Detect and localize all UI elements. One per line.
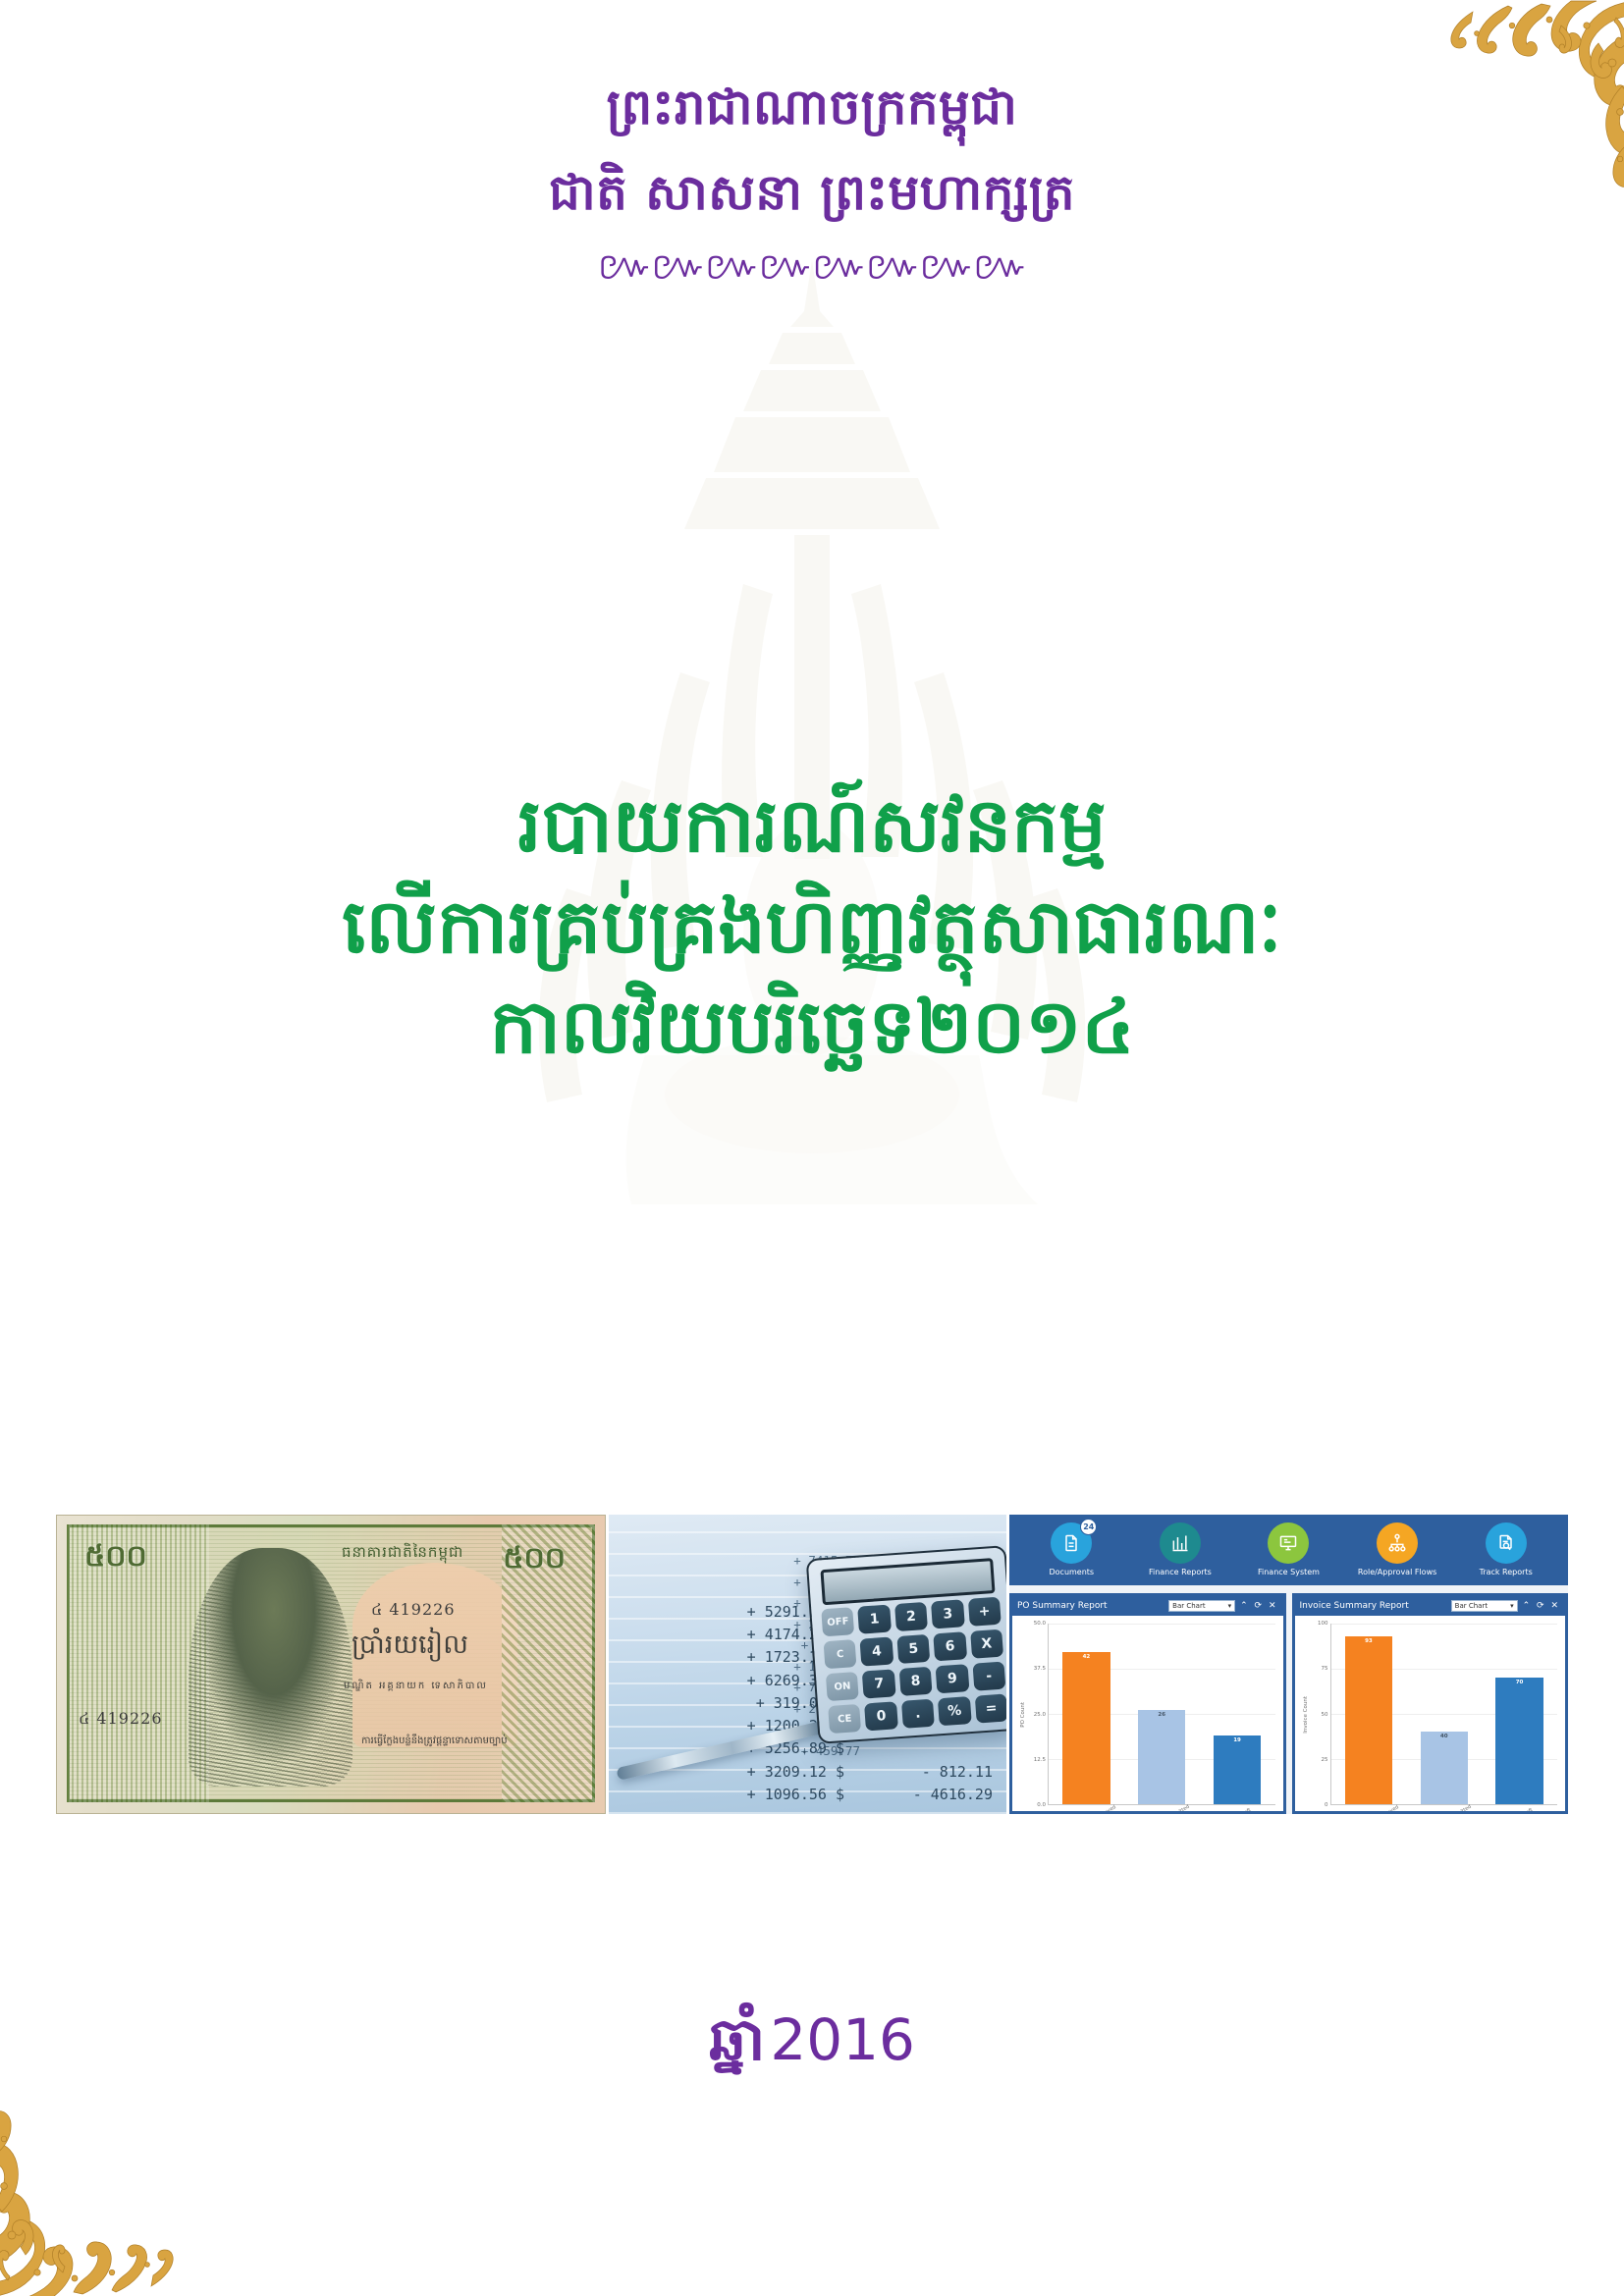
bar-value-label: 19 (1233, 1737, 1241, 1743)
bar-value-label: 70 (1516, 1680, 1524, 1685)
banknote-denomination-right: ៥០០ (503, 1539, 566, 1582)
title-line-audit-report: របាយការណ៍សវនកម្ម (0, 775, 1624, 877)
chart-x-labels: Approved Submitted Draft (1070, 1810, 1275, 1814)
calculator-key[interactable]: OFF (821, 1607, 854, 1636)
x-tick-label: Draft (1238, 1807, 1252, 1814)
document-header: ព្រះរាជាណាចក្រកម្ពុជា ជាតិ សាសនា ព្រះមហា… (0, 0, 1624, 286)
calculator-key[interactable]: - (972, 1662, 1005, 1691)
y-tick: 50.0 (1034, 1621, 1046, 1627)
document-icon: 24 (1051, 1522, 1092, 1564)
chart-plot-area: 42 26 19 (1048, 1624, 1275, 1805)
bar-value-label: 26 (1158, 1712, 1165, 1718)
dashboard-tile-label: Finance System (1258, 1569, 1320, 1577)
banknote-counterfeit-warning: ការធ្វើក្លែងបន្លំនឹងត្រូវផ្តន្ទាទោសតាមច្… (361, 1734, 508, 1748)
chart-bar[interactable]: 19 (1214, 1735, 1261, 1804)
calculator-key[interactable]: ON (826, 1672, 859, 1701)
chart-y-ticks: 0.0 12.5 25.0 37.5 50.0 (1028, 1624, 1048, 1805)
calculator-key[interactable]: 5 (896, 1634, 930, 1664)
year-value: 2016 (770, 2006, 915, 2073)
calculator-key[interactable]: % (938, 1696, 971, 1726)
chart-plot-area: 93 40 70 (1330, 1624, 1558, 1805)
title-line-fiscal-period: កាលវិយបរិច្ឆេទ២០១៤ (0, 977, 1624, 1078)
bar-value-label: 93 (1365, 1638, 1373, 1644)
accounting-photo: + 7415.70 + 7120.08 + 2294.31 + 2182.11 … (609, 1515, 1006, 1814)
x-tick-label: Submitted (1448, 1804, 1473, 1814)
hierarchy-icon (1377, 1522, 1418, 1564)
calculator-key[interactable]: . (901, 1699, 935, 1729)
search-document-icon (1486, 1522, 1527, 1564)
y-tick: 75 (1322, 1666, 1328, 1672)
year-label: ឆ្នាំ (709, 2005, 765, 2074)
royal-emblem-watermark (449, 250, 1175, 1252)
banknote-issuer-text: ធនាគារជាតិនៃកម្ពុជា (342, 1543, 463, 1565)
ledger-line: + 319.05 $ (619, 1692, 844, 1715)
x-tick-label: Draft (1520, 1807, 1534, 1814)
document-title-block: របាយការណ៍សវនកម្ម លើការគ្រប់គ្រងហិញ្ញវត្ថ… (0, 775, 1624, 1078)
panel-window-controls[interactable]: ⌃ ⟳ ✕ (1523, 1601, 1560, 1611)
cover-image-strip: ៥០០ ៥០០ ធនាគារជាតិនៃកម្ពុជា ៤ 419226 ៤ 4… (56, 1515, 1568, 1814)
publication-year-block: ឆ្នាំ 2016 (0, 2002, 1624, 2089)
ledger-line: + 1723.11 $ (619, 1646, 844, 1669)
y-tick: 100 (1318, 1621, 1328, 1627)
chart-type-select[interactable]: Bar Chart ▾ (1451, 1600, 1518, 1612)
chart-bars: 93 40 70 (1331, 1624, 1558, 1804)
ledger-right-numbers: - 812.11 - 4616.29 (845, 1761, 993, 1807)
panel-header: PO Summary Report Bar Chart ▾ ⌃ ⟳ ✕ (1012, 1596, 1283, 1616)
chart-type-value: Bar Chart (1455, 1602, 1488, 1610)
y-tick: 25 (1322, 1757, 1328, 1763)
panel-window-controls[interactable]: ⌃ ⟳ ✕ (1240, 1601, 1277, 1611)
calculator-key[interactable]: 9 (936, 1664, 969, 1693)
chart-bar[interactable]: 70 (1495, 1678, 1543, 1804)
chart-bar[interactable]: 42 (1062, 1652, 1110, 1804)
chevron-down-icon: ▾ (1228, 1602, 1232, 1610)
dashboard-tile-label: Role/Approval Flows (1358, 1569, 1436, 1577)
banknote-value-words: ប្រាំរយរៀល (352, 1629, 468, 1667)
bar-value-label: 40 (1440, 1734, 1448, 1739)
ledger-line: + 1096.56 $ (619, 1784, 844, 1806)
calculator-key[interactable]: 6 (933, 1631, 966, 1661)
po-summary-report-panel: PO Summary Report Bar Chart ▾ ⌃ ⟳ ✕ PO C… (1009, 1593, 1286, 1814)
panel-title: PO Summary Report (1017, 1601, 1164, 1611)
calculator-key[interactable]: + (967, 1597, 1001, 1627)
panel-title: Invoice Summary Report (1300, 1601, 1446, 1611)
cambodian-500-riel-note: ៥០០ ៥០០ ធនាគារជាតិនៃកម្ពុជា ៤ 419226 ៤ 4… (56, 1515, 606, 1814)
banknote-signature-labels: បណ្ឌិត អគ្គនាយក ទេសាភិបាល (344, 1679, 488, 1693)
invoice-summary-bar-chart: Invoice Count 0 25 50 75 100 (1303, 1624, 1558, 1805)
calculator-key[interactable]: 7 (862, 1669, 895, 1698)
banknote-photo: ៥០០ ៥០០ ធនាគារជាតិនៃកម្ពុជា ៤ 419226 ៤ 4… (56, 1515, 606, 1814)
corner-ornament-bottom-left (0, 2110, 181, 2296)
calculator: OFF 1 2 3 + C 4 5 6 X ON 7 8 9 - (806, 1545, 1006, 1744)
calculator-key[interactable]: 4 (860, 1636, 893, 1666)
x-tick-label: Approved (1095, 1804, 1118, 1814)
chart-y-axis-label: Invoice Count (1303, 1696, 1309, 1734)
calculator-key[interactable]: 1 (858, 1605, 892, 1634)
dashboard-tile-track-reports[interactable]: Track Reports (1459, 1522, 1553, 1577)
dashboard-tile-role-approval-flows[interactable]: Role/Approval Flows (1350, 1522, 1444, 1577)
chart-bar[interactable]: 40 (1421, 1732, 1468, 1804)
dashboard-nav-bar: 24 Documents Finance Reports (1009, 1515, 1568, 1585)
y-tick: 0.0 (1037, 1802, 1046, 1808)
dashboard-tile-finance-system[interactable]: Finance System (1241, 1522, 1335, 1577)
chart-bars: 42 26 19 (1049, 1624, 1275, 1804)
document-cover-page: ព្រះរាជាណាចក្រកម្ពុជា ជាតិ សាសនា ព្រះមហា… (0, 0, 1624, 2296)
nation-religion-king-line: ជាតិ សាសនា ព្រះមហាក្សត្រ (0, 138, 1624, 224)
dashboard-tile-label: Finance Reports (1149, 1569, 1212, 1577)
chart-bar[interactable]: 26 (1138, 1710, 1185, 1804)
y-tick: 37.5 (1034, 1666, 1046, 1672)
po-summary-bar-chart: PO Count 0.0 12.5 25.0 37.5 50.0 (1020, 1624, 1275, 1805)
dashboard-tile-label: Documents (1049, 1569, 1094, 1577)
dashboard: 24 Documents Finance Reports (1009, 1515, 1568, 1814)
chart-type-select[interactable]: Bar Chart ▾ (1168, 1600, 1235, 1612)
panel-body: Invoice Count 0 25 50 75 100 (1295, 1616, 1566, 1811)
y-tick: 25.0 (1034, 1712, 1046, 1718)
title-line-public-finance-management: លើការគ្រប់គ្រងហិញ្ញវត្ថុសាធារណៈ (0, 877, 1624, 978)
chart-type-value: Bar Chart (1172, 1602, 1205, 1610)
calculator-key[interactable]: C (824, 1639, 857, 1669)
calculator-key[interactable]: 0 (864, 1701, 897, 1731)
calculator-key[interactable]: = (974, 1693, 1006, 1723)
x-tick-label: Submitted (1165, 1804, 1190, 1814)
calculator-key[interactable]: 8 (898, 1667, 932, 1696)
calculator-key[interactable]: X (970, 1629, 1003, 1659)
dashboard-tile-label: Track Reports (1480, 1569, 1533, 1577)
chart-y-ticks: 0 25 50 75 100 (1311, 1624, 1330, 1805)
y-tick: 0 (1325, 1802, 1328, 1808)
calculator-keypad: OFF 1 2 3 + C 4 5 6 X ON 7 8 9 - (821, 1597, 1006, 1734)
banknote-serial-bottom: ៤ 419226 (79, 1708, 163, 1732)
dashboard-report-panels: PO Summary Report Bar Chart ▾ ⌃ ⟳ ✕ PO C… (1009, 1593, 1568, 1814)
documents-badge: 24 (1080, 1519, 1097, 1535)
chart-x-labels: Approved Submitted Draft (1353, 1810, 1558, 1814)
finance-dashboard-screenshot: 24 Documents Finance Reports (1009, 1515, 1568, 1814)
banknote-serial-top: ៤ 419226 (371, 1599, 456, 1623)
y-tick: 12.5 (1034, 1757, 1046, 1763)
calculator-key[interactable]: CE (828, 1704, 861, 1734)
invoice-summary-report-panel: Invoice Summary Report Bar Chart ▾ ⌃ ⟳ ✕… (1292, 1593, 1569, 1814)
chevron-down-icon: ▾ (1510, 1602, 1514, 1610)
calculator-key[interactable]: 3 (931, 1599, 964, 1629)
ledger-right-line: - 4616.29 (845, 1784, 993, 1806)
y-tick: 50 (1322, 1712, 1328, 1718)
chart-y-axis-label: PO Count (1020, 1702, 1026, 1728)
panel-header: Invoice Summary Report Bar Chart ▾ ⌃ ⟳ ✕ (1295, 1596, 1566, 1616)
kingdom-of-cambodia-line: ព្រះរាជាណាចក្រកម្ពុជា (0, 0, 1624, 138)
panel-body: PO Count 0.0 12.5 25.0 37.5 50.0 (1012, 1616, 1283, 1811)
chart-bar[interactable]: 93 (1345, 1636, 1392, 1804)
banknote-denomination-left: ៥០០ (84, 1537, 147, 1580)
calculator-key[interactable]: 2 (894, 1602, 928, 1631)
monitor-icon (1268, 1522, 1309, 1564)
dashboard-tile-finance-reports[interactable]: Finance Reports (1133, 1522, 1227, 1577)
bar-value-label: 42 (1083, 1654, 1091, 1660)
ledger-line: + 6269.30 $ (619, 1670, 844, 1692)
decorative-divider-ornament: ៚៚៚៚៚៚៚៚ (0, 246, 1624, 286)
finance-chart-icon (1160, 1522, 1201, 1564)
banknote-portrait (189, 1548, 352, 1786)
dashboard-tile-documents[interactable]: 24 Documents (1024, 1522, 1118, 1577)
ledger-right-line: - 812.11 (845, 1761, 993, 1784)
ledger-background: + 7415.70 + 7120.08 + 2294.31 + 2182.11 … (609, 1515, 1006, 1814)
x-tick-label: Approved (1377, 1804, 1400, 1814)
